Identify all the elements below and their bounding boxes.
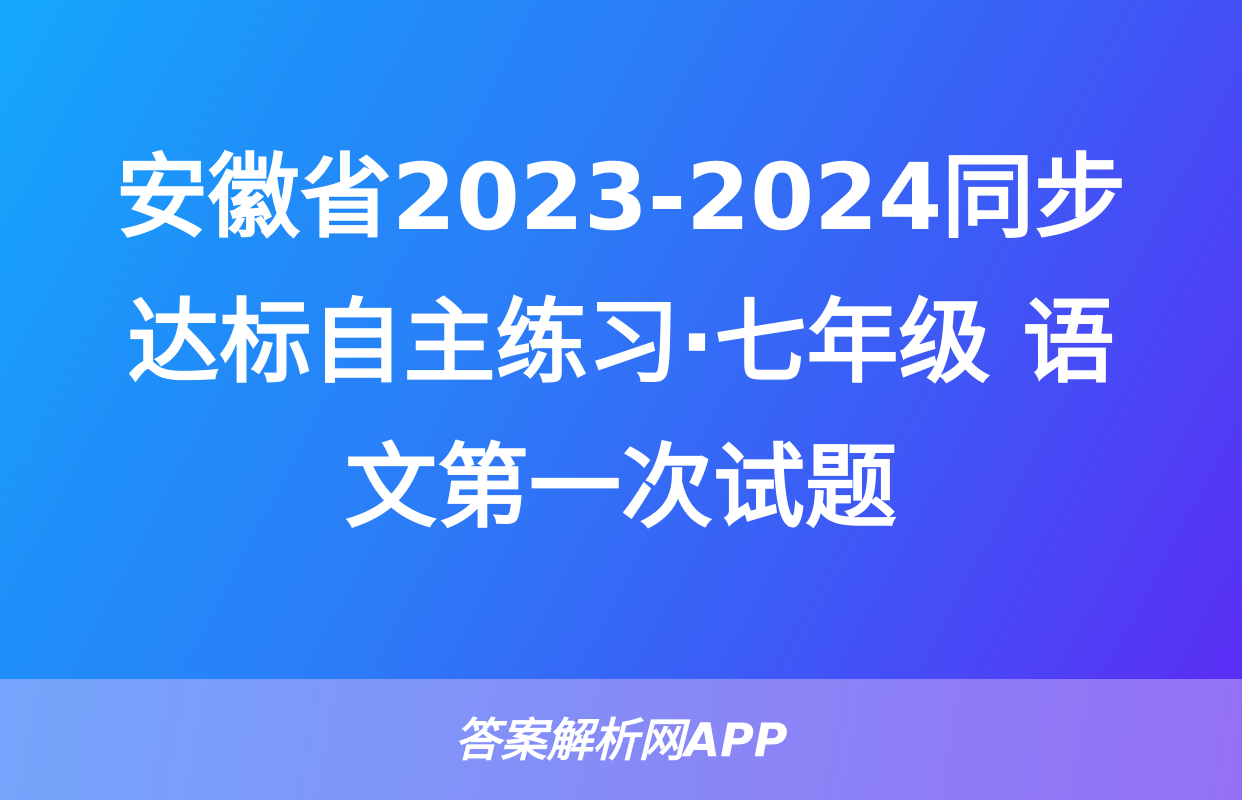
title-line-2: 达标自主练习·七年级 语 bbox=[106, 270, 1136, 415]
watermark-bar: 答案解析网APP bbox=[0, 679, 1242, 800]
hero-banner: 安徽省2023-2024同步 达标自主练习·七年级 语 文第一次试题 bbox=[0, 0, 1242, 679]
watermark-text: 答案解析网APP bbox=[454, 715, 787, 765]
title-line-1: 安徽省2023-2024同步 bbox=[106, 125, 1136, 270]
title-line-3: 文第一次试题 bbox=[106, 415, 1136, 560]
title-card: 安徽省2023-2024同步 达标自主练习·七年级 语 文第一次试题 答案解析网… bbox=[0, 0, 1242, 800]
page-title: 安徽省2023-2024同步 达标自主练习·七年级 语 文第一次试题 bbox=[106, 125, 1136, 560]
